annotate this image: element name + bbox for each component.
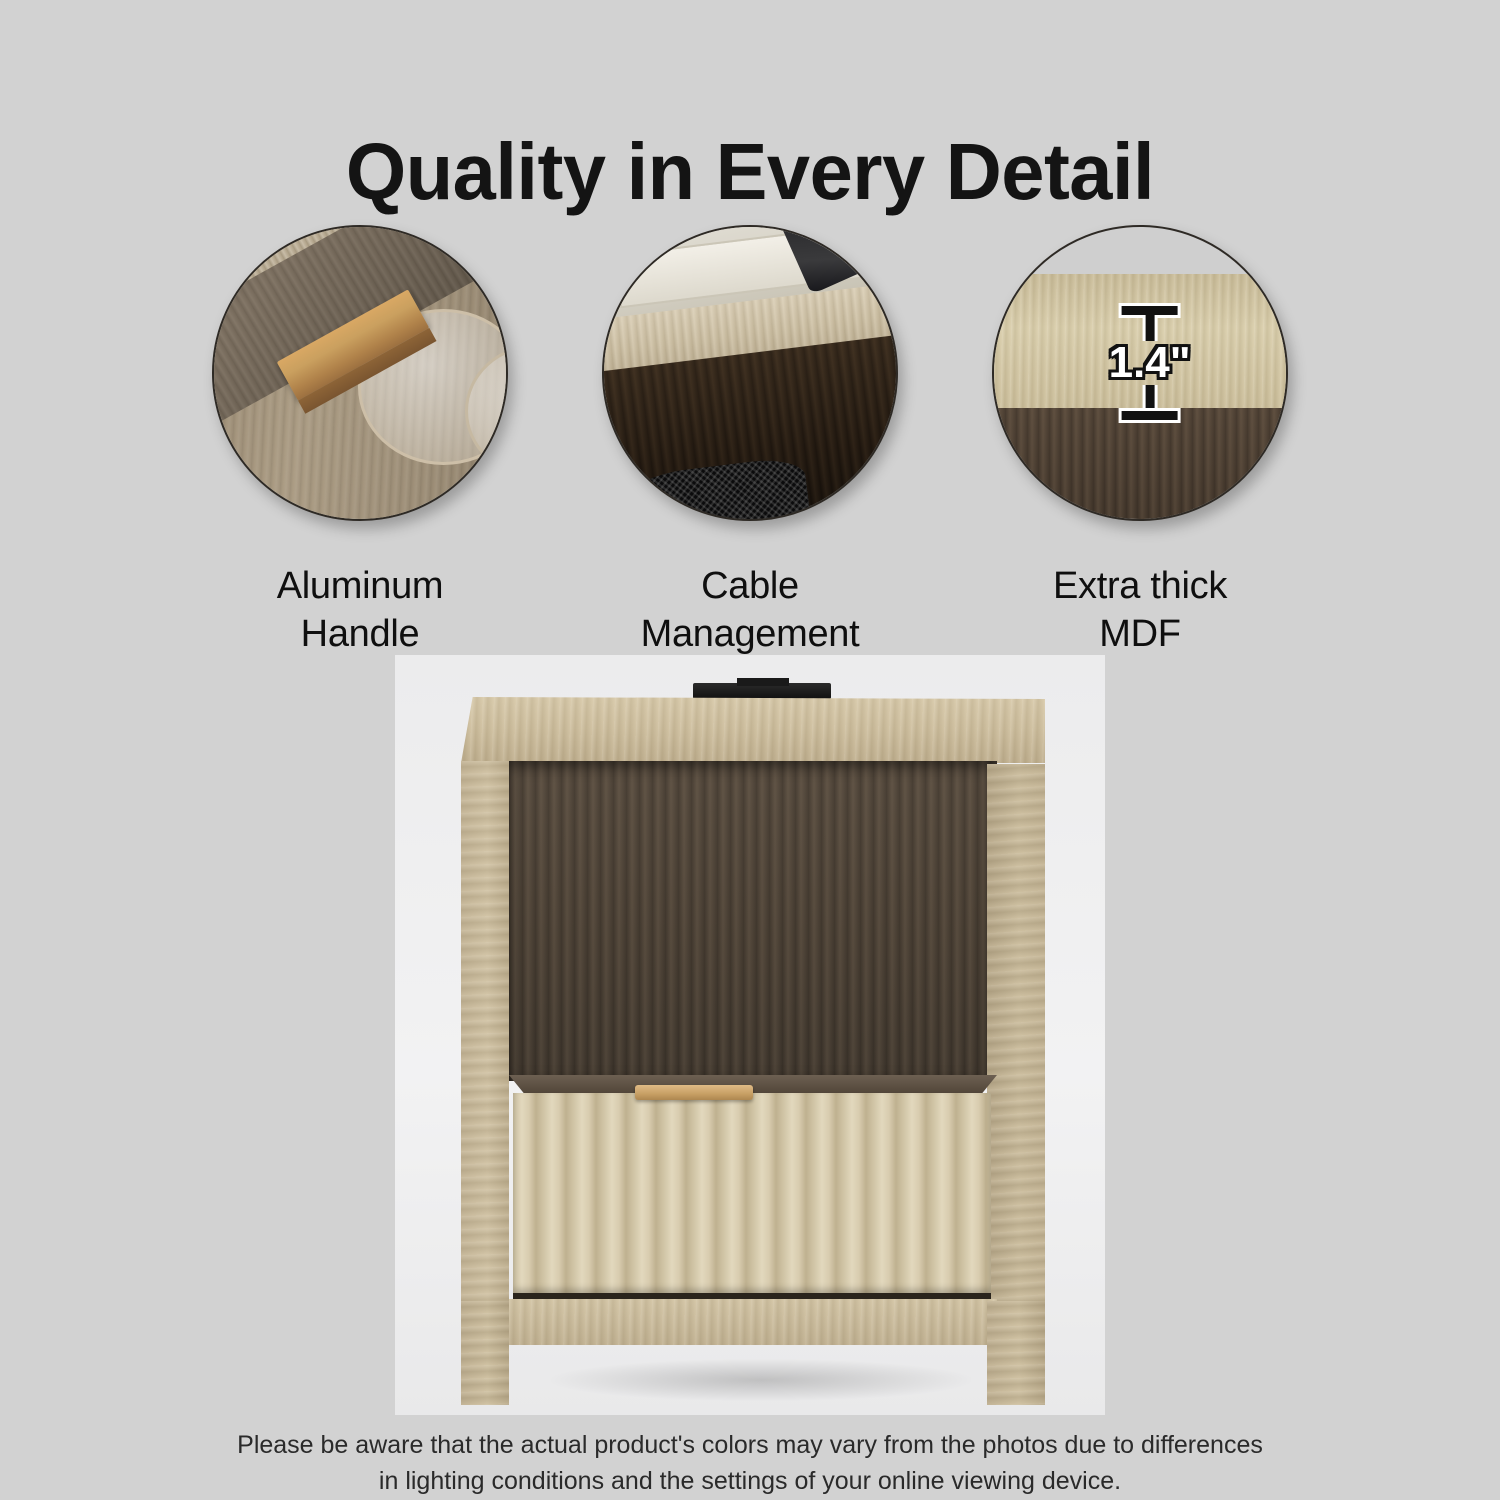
cable-port-icon [693, 683, 831, 699]
product-photo [395, 655, 1105, 1415]
nightstand-side-left [461, 761, 509, 1301]
feature-aluminum-handle: Aluminum Handle [214, 225, 506, 706]
caption-line-1: Aluminum [277, 563, 444, 611]
extra-thick-mdf-photo: 1.4" [994, 227, 1286, 519]
nightstand-leg-left [461, 1301, 509, 1405]
nightstand-open-shelf [509, 761, 997, 1081]
feature-caption-aluminum-handle: Aluminum Handle [277, 563, 444, 658]
nightstand-floor-shadow [551, 1359, 971, 1401]
dark-wood-below [994, 408, 1286, 519]
caption-line-1: Cable Management [604, 563, 896, 658]
disclaimer-text: Please be aware that the actual product'… [0, 1428, 1500, 1499]
thickness-callout: 1.4" [1090, 306, 1210, 420]
nightstand-leg-right [987, 1301, 1045, 1405]
feature-extra-thick-mdf: 1.4" Extra thick MDF [994, 225, 1286, 706]
disclaimer-line-1: Please be aware that the actual product'… [0, 1428, 1500, 1464]
page-title: Quality in Every Detail [23, 132, 1478, 212]
nightstand-fluted-drawer [513, 1093, 991, 1293]
nightstand-shelf-board [509, 1075, 997, 1093]
dimension-cap-top-icon [1122, 306, 1178, 315]
caption-line-1: Extra thick [1053, 563, 1227, 611]
caption-line-2: MDF [1053, 611, 1227, 659]
cable-management-photo [604, 227, 896, 519]
drawer-gold-handle [635, 1085, 753, 1100]
nightstand-illustration [455, 675, 1051, 1405]
dimension-stem-bottom-icon [1145, 385, 1154, 411]
feature-image-extra-thick-mdf: 1.4" [992, 225, 1288, 521]
feature-highlights-row: Aluminum Handle Cable Management Design [0, 225, 1500, 706]
nightstand-tabletop [461, 697, 1045, 763]
feature-image-cable-management [602, 225, 898, 521]
feature-image-aluminum-handle [212, 225, 508, 521]
disclaimer-line-2: in lighting conditions and the settings … [0, 1464, 1500, 1500]
dimension-value: 1.4" [1090, 342, 1210, 384]
nightstand-side-right [987, 764, 1045, 1301]
caption-line-2: Handle [277, 611, 444, 659]
feature-caption-extra-thick-mdf: Extra thick MDF [1053, 563, 1227, 658]
dimension-cap-bottom-icon [1122, 411, 1178, 420]
feature-cable-management: Cable Management Design [604, 225, 896, 706]
nightstand-bottom-rail [509, 1299, 997, 1345]
aluminum-handle-photo [214, 227, 506, 519]
